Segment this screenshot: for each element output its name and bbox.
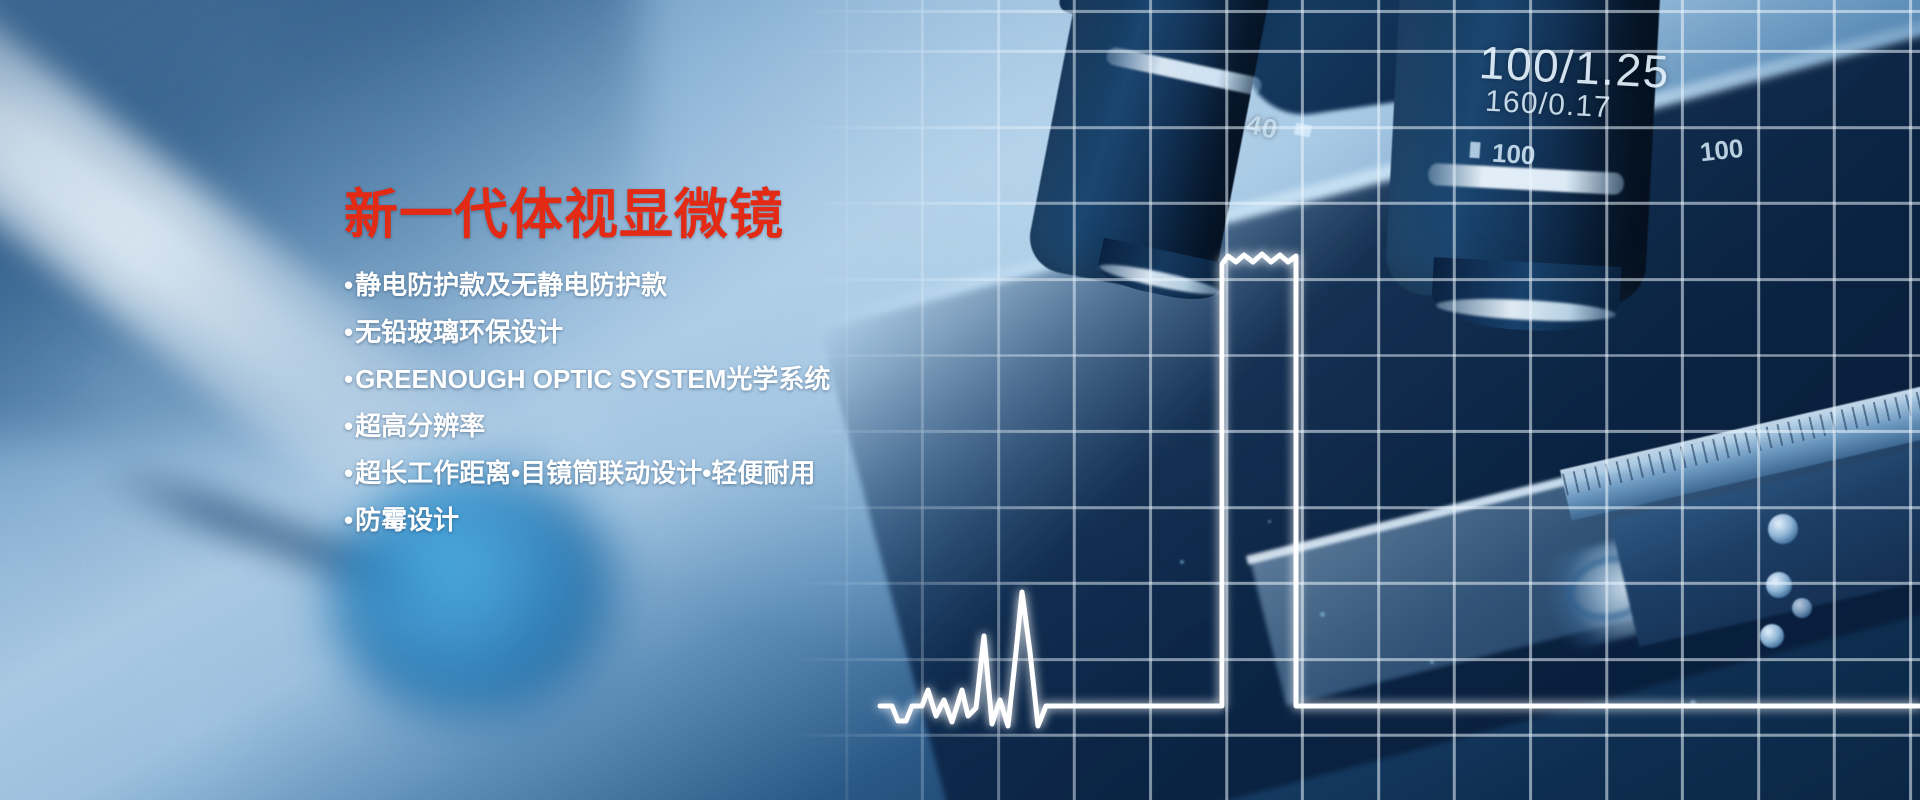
product-banner: 40 100/1.25 160/0.17 100 100 新一代体视显微镜 [0,0,1920,800]
dust-speck [1180,560,1184,564]
list-item: •超长工作距离•目镜筒联动设计•轻便耐用 [344,460,984,486]
feature-text: 防霉设计 [355,505,459,535]
feature-text: 静电防护款及无静电防护款 [355,270,667,300]
dust-speck [1268,520,1271,523]
dust-speck [1430,660,1434,664]
page-title: 新一代体视显微镜 [344,186,984,244]
stage-screw-1 [1768,514,1798,544]
objective-right-tube-text: 160/0.17 [1484,85,1612,126]
bullet-icon: • [344,366,353,392]
list-item: •GREENOUGH OPTIC SYSTEM光学系统 [344,366,984,392]
list-item: •超高分辨率 [344,413,984,439]
bullet-icon: • [344,319,353,345]
stage-screw-4 [1792,598,1812,618]
feature-text: 无铅玻璃环保设计 [355,317,563,347]
feature-list: •静电防护款及无静电防护款 •无铅玻璃环保设计 •GREENOUGH OPTIC… [344,272,984,533]
list-item: •无铅玻璃环保设计 [344,319,984,345]
stage-screw-2 [1766,572,1792,598]
objective-right-index-mark [1469,142,1480,159]
bullet-icon: • [344,413,353,439]
bullet-icon: • [344,507,353,533]
feature-text: 超高分辨率 [355,411,485,441]
stage-screw-3 [1760,624,1784,648]
copy-block: 新一代体视显微镜 •静电防护款及无静电防护款 •无铅玻璃环保设计 •GREENO… [344,186,984,554]
dust-speck [1690,700,1696,706]
bullet-icon: • [344,272,353,298]
feature-text: GREENOUGH OPTIC SYSTEM光学系统 [355,364,830,394]
feature-text: 超长工作距离•目镜筒联动设计•轻便耐用 [355,458,815,488]
list-item: •静电防护款及无静电防护款 [344,272,984,298]
objective-right-magnification-right: 100 [1698,133,1744,168]
list-item: •防霉设计 [344,507,984,533]
bullet-icon: • [344,460,353,486]
objective-left-magnification-label: 40 [1243,109,1281,146]
dust-speck [1320,612,1325,617]
